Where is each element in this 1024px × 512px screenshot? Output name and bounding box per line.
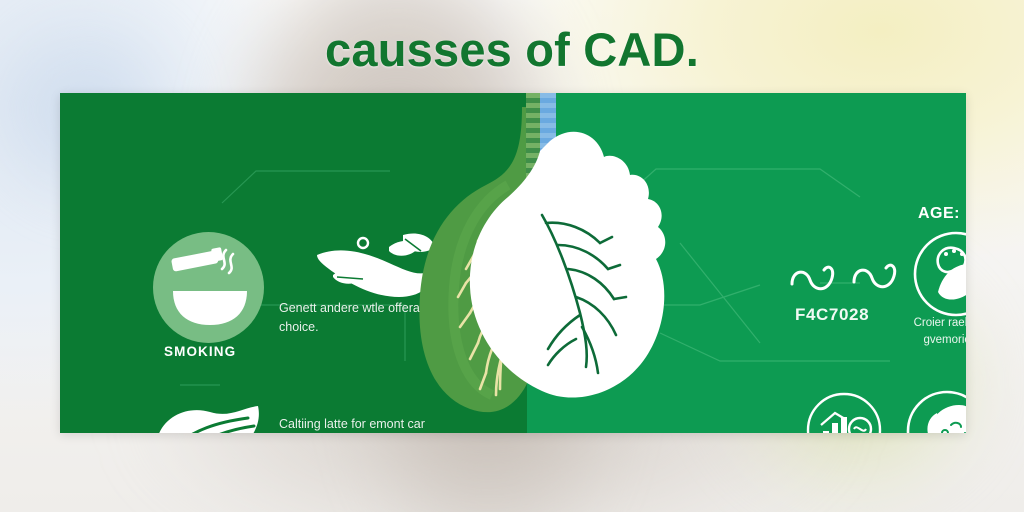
heart-lung-illustration (390, 93, 720, 433)
smoking-label: SMOKING (164, 344, 236, 359)
squiggle-divider-icon (788, 258, 904, 298)
chip-wave-icon (148, 396, 266, 433)
age-caption: Croier raelned gvemories (890, 315, 966, 350)
head-profile-icon (905, 389, 966, 433)
infographic-panel: SMOKING Genett andere wtle offeraty choi… (60, 93, 966, 433)
age-hand-icon (912, 230, 966, 318)
page-title: causses of CAD. (0, 26, 1024, 73)
cholesterol-chart-icon (805, 391, 883, 433)
age-heading: AGE: (918, 205, 960, 223)
heart-shape (470, 132, 665, 398)
cigarette-ashtray-icon (167, 243, 253, 333)
infographic-stage: causses of CAD. (0, 0, 1024, 512)
fact-code: F4C7028 (795, 305, 869, 325)
